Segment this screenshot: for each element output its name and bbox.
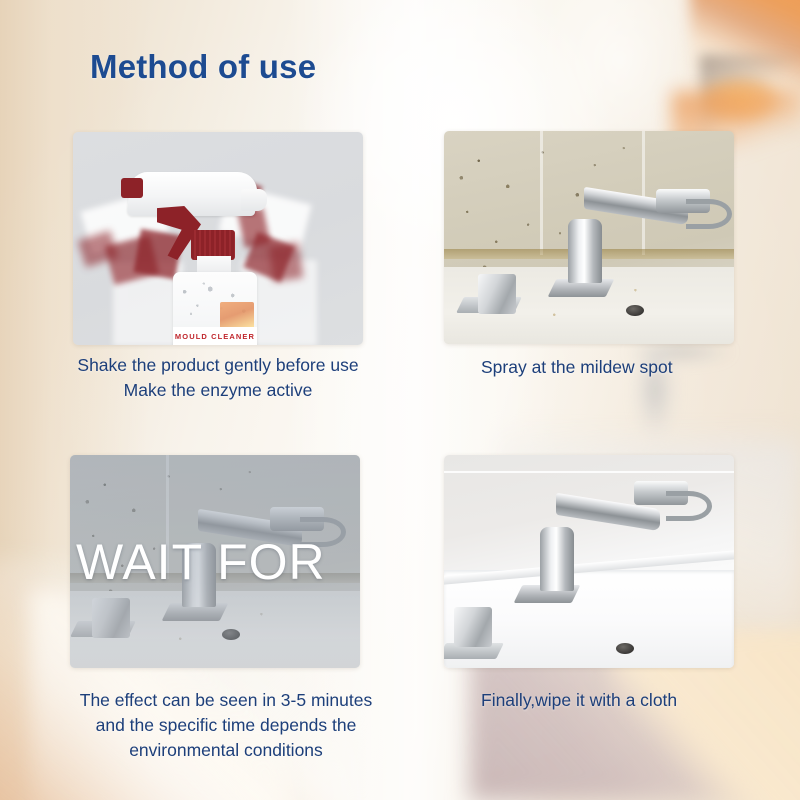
step-4-image [444,455,734,668]
step-4-caption-line-1: Finally,wipe it with a cloth [481,688,781,713]
wait-for-overlay-text: WAIT FOR [76,533,360,591]
sprayer-nozzle [241,189,267,211]
step-1-caption-line-1: Shake the product gently before use [58,353,378,378]
overflow-drain [616,643,634,654]
sprayer-back-tab [121,178,143,198]
bottle-hand-graphic [220,302,254,330]
overflow-drain [626,305,644,316]
tile-grout-line [642,131,645,255]
step-1-image: MOULD CLEANER [73,132,363,345]
step-2-caption-line-1: Spray at the mildew spot [481,355,781,380]
product-label: MOULD CLEANER [173,327,257,345]
tile-grout-line [540,131,543,255]
promo-page: Method of use [0,0,800,800]
step-3-image: WAIT FOR [70,455,360,668]
page-title: Method of use [90,48,316,86]
step-1-caption: Shake the product gently before use Make… [58,353,378,403]
bottle-body: MOULD CLEANER [173,272,257,345]
step-3: WAIT FOR [70,455,360,668]
step-1-caption-line-2: Make the enzyme active [58,378,378,403]
step-4 [444,455,734,668]
step-3-caption: The effect can be seen in 3-5 minutes an… [52,688,400,763]
faucet-lever-loop [686,199,732,229]
faucet-lever-loop [666,491,712,521]
wall-tile-line [444,471,734,473]
step-2-caption: Spray at the mildew spot [481,355,781,380]
product-label-text: MOULD CLEANER [175,332,255,341]
step-3-caption-line-2: and the specific time depends the [52,713,400,738]
motion-ghost-red [269,242,304,282]
step-1: MOULD CLEANER [73,132,363,345]
step-3-caption-line-1: The effect can be seen in 3-5 minutes [52,688,400,713]
spout-riser [540,527,574,591]
step-2 [444,131,734,344]
faucet-handle [478,274,516,314]
faucet-handle [454,607,492,647]
step-4-caption: Finally,wipe it with a cloth [481,688,781,713]
step-2-image [444,131,734,344]
step-3-caption-line-3: environmental conditions [52,738,400,763]
spray-bottle-illustration: MOULD CLEANER [73,132,363,345]
spout-riser [568,219,602,283]
sprayer-head [127,172,260,216]
